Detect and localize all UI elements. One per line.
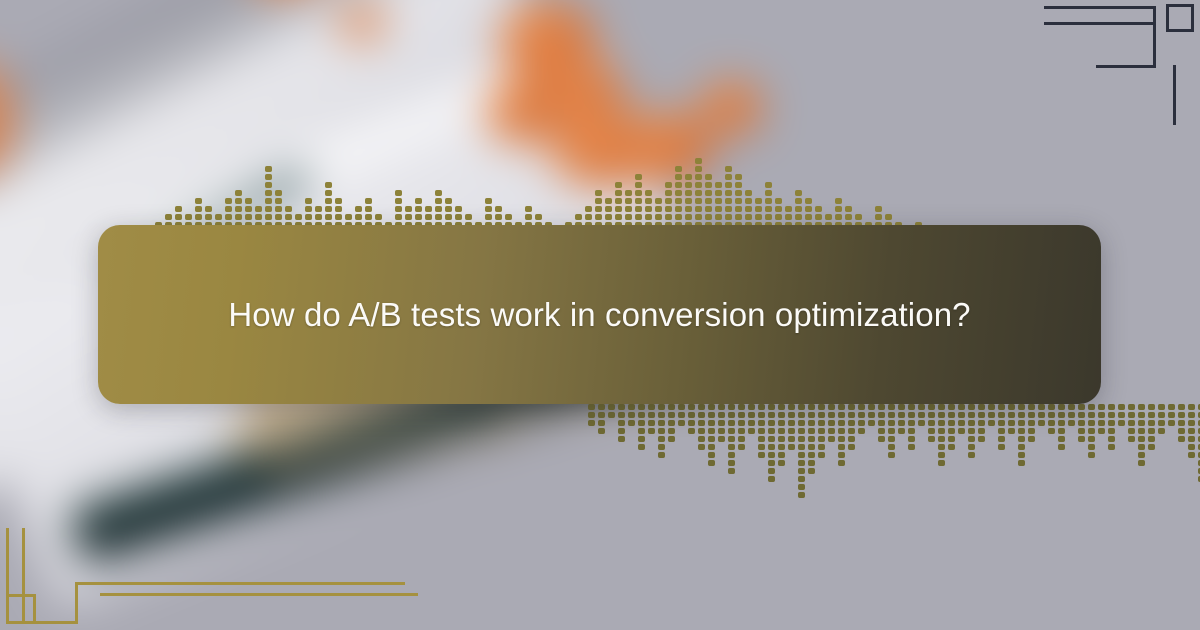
waveform-dot [1188, 404, 1195, 410]
waveform-dot [768, 420, 775, 426]
waveform-column [1038, 404, 1045, 426]
waveform-dot [1158, 412, 1165, 418]
waveform-dot [685, 182, 692, 188]
waveform-dot [325, 190, 332, 196]
waveform-dot [728, 436, 735, 442]
waveform-dot [795, 206, 802, 212]
waveform-dot [875, 214, 882, 220]
waveform-dot [445, 198, 452, 204]
waveform-dot [845, 206, 852, 212]
waveform-dot [225, 206, 232, 212]
waveform-dot [658, 420, 665, 426]
waveform-dot [978, 428, 985, 434]
waveform-dot [245, 214, 252, 220]
waveform-dot [888, 420, 895, 426]
waveform-dot [715, 206, 722, 212]
waveform-column [828, 404, 835, 442]
waveform-dot [675, 190, 682, 196]
waveform-dot [778, 444, 785, 450]
waveform-dot [695, 206, 702, 212]
waveform-dot [788, 436, 795, 442]
waveform-dot [678, 404, 685, 410]
waveform-dot [1058, 428, 1065, 434]
waveform-dot [658, 412, 665, 418]
waveform-dot [938, 420, 945, 426]
waveform-dot [435, 190, 442, 196]
waveform-dot [628, 420, 635, 426]
waveform-dot [815, 206, 822, 212]
waveform-dot [1018, 404, 1025, 410]
waveform-dot [665, 206, 672, 212]
waveform-dot [748, 404, 755, 410]
waveform-dot [275, 190, 282, 196]
waveform-dot [748, 428, 755, 434]
waveform-dot [365, 206, 372, 212]
waveform-dot [708, 436, 715, 442]
waveform-dot [305, 214, 312, 220]
waveform-dot [958, 412, 965, 418]
waveform-dot [725, 174, 732, 180]
waveform-dot [908, 436, 915, 442]
waveform-column [958, 404, 965, 434]
waveform-column [648, 404, 655, 434]
waveform-dot [738, 436, 745, 442]
waveform-dot [878, 420, 885, 426]
waveform-column [598, 404, 605, 434]
waveform-dot [998, 444, 1005, 450]
waveform-dot [1078, 436, 1085, 442]
waveform-dot [1018, 436, 1025, 442]
waveform-dot [705, 198, 712, 204]
waveform-dot [1188, 436, 1195, 442]
waveform-dot [828, 428, 835, 434]
waveform-dot [365, 214, 372, 220]
waveform-dot [755, 198, 762, 204]
waveform-dot [1178, 436, 1185, 442]
waveform-dot [1128, 420, 1135, 426]
waveform-dot [888, 404, 895, 410]
waveform-column [1188, 404, 1195, 458]
waveform-dot [658, 436, 665, 442]
waveform-dot [205, 206, 212, 212]
waveform-dot [798, 492, 805, 498]
waveform-column [1018, 404, 1025, 466]
waveform-dot [938, 436, 945, 442]
waveform-dot [838, 452, 845, 458]
waveform-column [758, 404, 765, 458]
waveform-dot [795, 190, 802, 196]
waveform-dot [858, 428, 865, 434]
waveform-dot [745, 190, 752, 196]
waveform-dot [728, 452, 735, 458]
waveform-dot [415, 206, 422, 212]
waveform-dot [1148, 412, 1155, 418]
background-tablet [270, 448, 300, 474]
waveform-dot [1018, 412, 1025, 418]
waveform-dot [1058, 420, 1065, 426]
waveform-dot [1038, 420, 1045, 426]
waveform-dot [335, 214, 342, 220]
waveform-dot [495, 206, 502, 212]
waveform-dot [808, 428, 815, 434]
waveform-dot [265, 190, 272, 196]
waveform-dot [808, 412, 815, 418]
waveform-dot [888, 428, 895, 434]
waveform-dot [725, 182, 732, 188]
waveform-dot [1008, 428, 1015, 434]
waveform-dot [848, 420, 855, 426]
waveform-dot [718, 428, 725, 434]
waveform-dot [805, 206, 812, 212]
waveform-dot [1108, 444, 1115, 450]
waveform-dot [1068, 420, 1075, 426]
waveform-dot [618, 428, 625, 434]
waveform-dot [1058, 404, 1065, 410]
waveform-dot [848, 412, 855, 418]
waveform-dot [1008, 420, 1015, 426]
background-tablet [354, 434, 384, 460]
waveform-dot [588, 412, 595, 418]
waveform-dot [1088, 428, 1095, 434]
waveform-dot [1128, 436, 1135, 442]
waveform-column [838, 404, 845, 466]
waveform-dot [1098, 404, 1105, 410]
waveform-column [698, 404, 705, 450]
waveform-dot [705, 214, 712, 220]
waveform-dot [648, 412, 655, 418]
waveform-dot [615, 198, 622, 204]
waveform-dot [798, 460, 805, 466]
waveform-column [658, 404, 665, 458]
waveform-dot [1118, 404, 1125, 410]
waveform-dot [768, 460, 775, 466]
waveform-dot [585, 206, 592, 212]
waveform-dot [768, 452, 775, 458]
waveform-column [1058, 404, 1065, 450]
waveform-dot [255, 206, 262, 212]
waveform-dot [595, 198, 602, 204]
waveform-dot [485, 214, 492, 220]
waveform-dot [588, 420, 595, 426]
waveform-dot [808, 460, 815, 466]
waveform-dot [355, 206, 362, 212]
waveform-dot [848, 436, 855, 442]
waveform-dot [605, 198, 612, 204]
waveform-dot [818, 428, 825, 434]
waveform-dot [898, 420, 905, 426]
waveform-dot [455, 206, 462, 212]
waveform-dot [1168, 420, 1175, 426]
waveform-dot [675, 174, 682, 180]
waveform-dot [618, 420, 625, 426]
waveform-dot [808, 452, 815, 458]
waveform-column [858, 404, 865, 434]
waveform-dot [698, 428, 705, 434]
waveform-dot [815, 214, 822, 220]
waveform-dot [648, 428, 655, 434]
waveform-dot [978, 404, 985, 410]
waveform-dot [1128, 412, 1135, 418]
waveform-dot [758, 444, 765, 450]
waveform-dot [675, 206, 682, 212]
waveform-dot [798, 428, 805, 434]
waveform-column [778, 404, 785, 466]
waveform-dot [848, 444, 855, 450]
waveform-dot [595, 206, 602, 212]
waveform-dot [695, 166, 702, 172]
waveform-dot [688, 428, 695, 434]
waveform-dot [1058, 412, 1065, 418]
waveform-column [1108, 404, 1115, 450]
waveform-dot [235, 190, 242, 196]
waveform-dot [758, 452, 765, 458]
waveform-dot [485, 206, 492, 212]
waveform-dot [978, 412, 985, 418]
waveform-dot [1178, 412, 1185, 418]
waveform-dot [1148, 420, 1155, 426]
waveform-dot [888, 436, 895, 442]
waveform-dot [1018, 420, 1025, 426]
waveform-column [688, 404, 695, 434]
waveform-column [738, 404, 745, 450]
waveform-dot [325, 182, 332, 188]
waveform-dot [1088, 404, 1095, 410]
waveform-dot [1188, 452, 1195, 458]
waveform-dot [878, 428, 885, 434]
waveform-dot [1078, 412, 1085, 418]
waveform-dot [695, 174, 702, 180]
waveform-dot [768, 468, 775, 474]
waveform-dot [1058, 444, 1065, 450]
waveform-dot [315, 214, 322, 220]
waveform-dot [978, 436, 985, 442]
waveform-dot [725, 190, 732, 196]
waveform-dot [585, 214, 592, 220]
waveform-dot [958, 428, 965, 434]
waveform-dot [658, 452, 665, 458]
corner-frame-bottom-left-icon [0, 520, 150, 630]
waveform-dot [1158, 428, 1165, 434]
waveform-dot [745, 206, 752, 212]
waveform-column [608, 404, 615, 418]
waveform-column [618, 404, 625, 442]
waveform-column [868, 404, 875, 426]
waveform-dot [1178, 420, 1185, 426]
waveform-column [798, 404, 805, 498]
waveform-dot [175, 214, 182, 220]
waveform-dot [708, 460, 715, 466]
waveform-column [728, 404, 735, 474]
waveform-dot [778, 436, 785, 442]
waveform-dot [675, 166, 682, 172]
waveform-dot [788, 412, 795, 418]
waveform-column [708, 404, 715, 466]
waveform-dot [615, 190, 622, 196]
waveform-dot [828, 404, 835, 410]
waveform-dot [245, 198, 252, 204]
waveform-column [1148, 404, 1155, 450]
waveform-dot [798, 444, 805, 450]
waveform-dot [1088, 452, 1095, 458]
waveform-column [968, 404, 975, 458]
waveform-dot [638, 420, 645, 426]
waveform-dot [225, 198, 232, 204]
waveform-dot [765, 206, 772, 212]
waveform-dot [608, 404, 615, 410]
waveform-column [1158, 404, 1165, 434]
waveform-dot [325, 214, 332, 220]
waveform-dot [705, 182, 712, 188]
waveform-dot [728, 460, 735, 466]
waveform-dot [928, 428, 935, 434]
waveform-dot [738, 404, 745, 410]
waveform-dot [618, 412, 625, 418]
waveform-dot [735, 174, 742, 180]
waveform-dot [1098, 412, 1105, 418]
waveform-dot [838, 412, 845, 418]
waveform-column [998, 404, 1005, 450]
waveform-dot [908, 412, 915, 418]
waveform-dot [918, 420, 925, 426]
waveform-dot [735, 214, 742, 220]
waveform-dot [805, 198, 812, 204]
waveform-dot [798, 404, 805, 410]
waveform-dot [748, 412, 755, 418]
waveform-dot [698, 436, 705, 442]
waveform-dot [765, 198, 772, 204]
waveform-dot [888, 452, 895, 458]
waveform-dot [948, 420, 955, 426]
background-capsule [338, 0, 386, 44]
waveform-dot [395, 190, 402, 196]
waveform-dot [1178, 404, 1185, 410]
waveform-dot [738, 420, 745, 426]
waveform-dot [858, 420, 865, 426]
waveform-dot [1138, 404, 1145, 410]
waveform-dot [665, 214, 672, 220]
waveform-dot [828, 412, 835, 418]
waveform-dot [978, 420, 985, 426]
waveform-column [1128, 404, 1135, 442]
waveform-dot [405, 206, 412, 212]
waveform-column [878, 404, 885, 442]
waveform-dot [598, 420, 605, 426]
waveform-dot [1128, 428, 1135, 434]
waveform-dot [1048, 428, 1055, 434]
waveform-dot [675, 198, 682, 204]
waveform-dot [758, 404, 765, 410]
waveform-dot [1008, 404, 1015, 410]
waveform-dot [305, 198, 312, 204]
waveform-dot [835, 214, 842, 220]
waveform-dot [1188, 428, 1195, 434]
waveform-dot [1138, 420, 1145, 426]
waveform-dot [598, 404, 605, 410]
waveform-dot [948, 428, 955, 434]
waveform-dot [785, 206, 792, 212]
waveform-dot [275, 198, 282, 204]
waveform-dot [675, 182, 682, 188]
waveform-dot [345, 214, 352, 220]
waveform-dot [1148, 428, 1155, 434]
waveform-dot [938, 452, 945, 458]
waveform-dot [675, 214, 682, 220]
waveform-dot [295, 214, 302, 220]
waveform-dot [245, 206, 252, 212]
waveform-dot [175, 206, 182, 212]
waveform-dot [835, 198, 842, 204]
waveform-dot [728, 412, 735, 418]
waveform-dot [625, 198, 632, 204]
waveform-dot [735, 198, 742, 204]
waveform-dot [605, 206, 612, 212]
waveform-column [748, 404, 755, 434]
background-capsule [486, 80, 560, 144]
audio-waveform-lower [588, 404, 1200, 498]
waveform-dot [938, 460, 945, 466]
waveform-dot [205, 214, 212, 220]
waveform-dot [1158, 420, 1165, 426]
waveform-dot [788, 428, 795, 434]
waveform-dot [848, 428, 855, 434]
waveform-column [718, 404, 725, 442]
waveform-column [1138, 404, 1145, 466]
waveform-dot [625, 206, 632, 212]
waveform-dot [1138, 428, 1145, 434]
waveform-dot [225, 214, 232, 220]
waveform-dot [998, 412, 1005, 418]
waveform-dot [415, 198, 422, 204]
waveform-dot [335, 206, 342, 212]
waveform-dot [1188, 444, 1195, 450]
waveform-dot [795, 198, 802, 204]
waveform-dot [1018, 460, 1025, 466]
waveform-dot [848, 404, 855, 410]
waveform-dot [705, 190, 712, 196]
waveform-dot [778, 452, 785, 458]
waveform-dot [705, 174, 712, 180]
waveform-dot [808, 420, 815, 426]
waveform-dot [715, 182, 722, 188]
waveform-dot [845, 214, 852, 220]
waveform-dot [688, 420, 695, 426]
waveform-dot [595, 214, 602, 220]
waveform-dot [745, 198, 752, 204]
waveform-dot [415, 214, 422, 220]
waveform-dot [778, 428, 785, 434]
waveform-dot [738, 444, 745, 450]
waveform-dot [285, 206, 292, 212]
waveform-dot [375, 214, 382, 220]
waveform-column [1178, 404, 1185, 442]
background-tablet [312, 441, 342, 467]
waveform-dot [525, 206, 532, 212]
waveform-dot [1068, 404, 1075, 410]
waveform-dot [1028, 436, 1035, 442]
waveform-dot [998, 404, 1005, 410]
waveform-dot [1128, 404, 1135, 410]
waveform-column [1068, 404, 1075, 426]
waveform-dot [968, 428, 975, 434]
waveform-dot [1188, 412, 1195, 418]
waveform-dot [185, 214, 192, 220]
waveform-dot [725, 198, 732, 204]
waveform-dot [1138, 452, 1145, 458]
waveform-dot [988, 412, 995, 418]
waveform-dot [495, 214, 502, 220]
waveform-dot [1018, 428, 1025, 434]
waveform-dot [898, 404, 905, 410]
